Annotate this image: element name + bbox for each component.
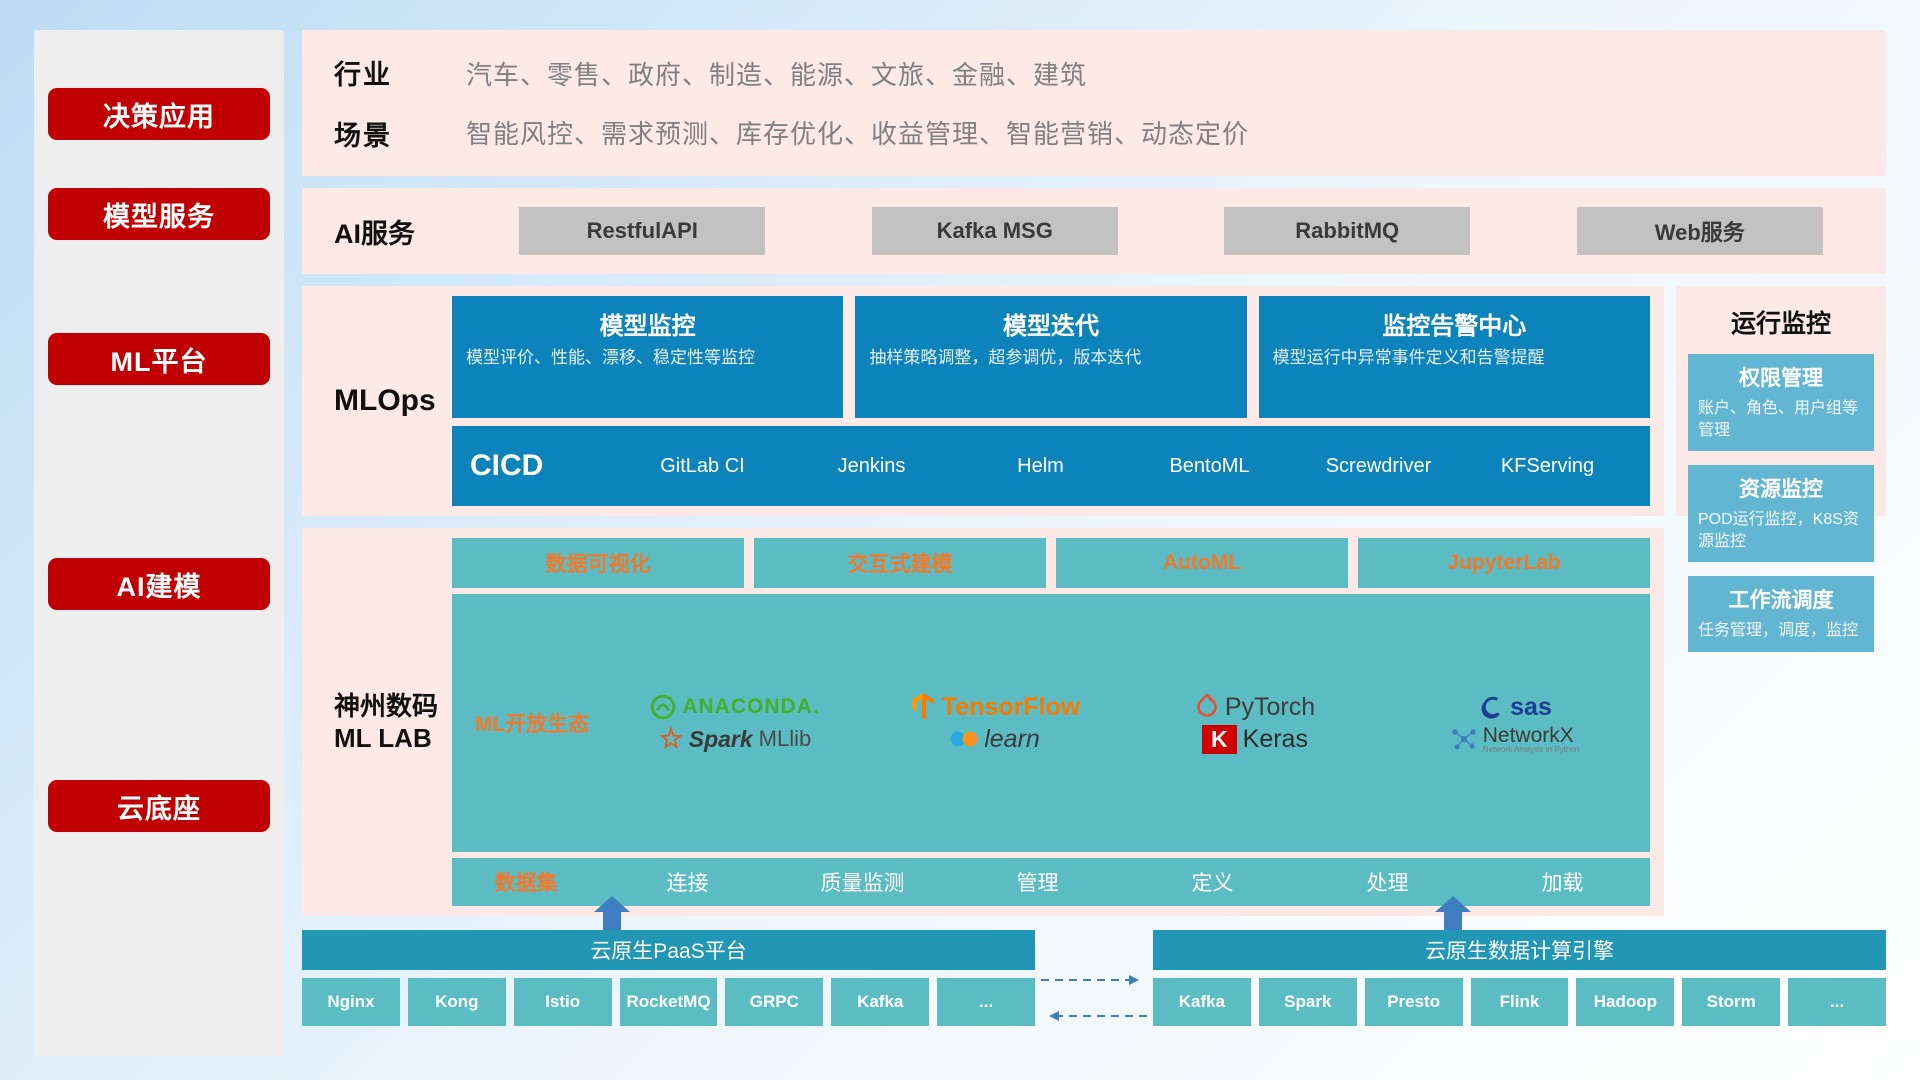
bidirectional-dashed-arrows-icon (1035, 930, 1153, 1056)
ml-platform-row: MLOps 模型监控 模型评价、性能、漂移、稳定性等监控 模型迭代 抽样策略调整… (302, 286, 1886, 516)
card-title: 模型迭代 (869, 306, 1232, 341)
engine-title: 云原生数据计算引擎 (1153, 930, 1886, 970)
keras-logo: K Keras (1202, 725, 1308, 754)
architecture-diagram: 决策应用 模型服务 ML平台 AI建模 云底座 行业 场景 汽车、零售、政府、制… (0, 0, 1920, 1080)
rail-item-ai-modeling[interactable]: AI建模 (48, 558, 270, 610)
paas-chip-grpc[interactable]: GRPC (725, 978, 823, 1026)
mlops-cards: 模型监控 模型评价、性能、漂移、稳定性等监控 模型迭代 抽样策略调整，超参调优，… (452, 296, 1650, 418)
tool-automl[interactable]: AutoML (1056, 538, 1348, 588)
ai-service-chips: RestfulAPI Kafka MSG RabbitMQ Web服务 (466, 207, 1886, 255)
dataset-cell-process[interactable]: 处理 (1300, 867, 1475, 897)
engine-chip-hadoop[interactable]: Hadoop (1576, 978, 1674, 1026)
dataset-cell-define[interactable]: 定义 (1125, 867, 1300, 897)
monitor-card-permission[interactable]: 权限管理 账户、角色、用户组等管理 (1688, 354, 1874, 451)
arrow-up-icon (1433, 896, 1473, 930)
cicd-item-bentoml[interactable]: BentoML (1125, 455, 1294, 477)
rail-label: 云底座 (117, 787, 201, 826)
ml-lab-label-line1: 神州数码 (334, 691, 438, 721)
ml-lab-label-line2: ML LAB (334, 723, 432, 753)
networkx-logo: NetworkX Network Analysis in Python (1451, 725, 1580, 754)
paas-title: 云原生PaaS平台 (302, 930, 1035, 970)
engine-chips: Kafka Spark Presto Flink Hadoop Storm ..… (1153, 978, 1886, 1026)
ml-ecosystem-panel: ML开放生态 ANACONDA. (452, 594, 1650, 852)
ai-chip-rabbitmq[interactable]: RabbitMQ (1224, 207, 1470, 255)
ai-modeling-row: 神州数码 ML LAB 数据可视化 交互式建模 AutoML JupyterLa… (302, 528, 1886, 916)
cicd-item-screwdriver[interactable]: Screwdriver (1294, 455, 1463, 477)
networkx-subtitle: Network Analysis in Python (1483, 746, 1580, 754)
card-desc: 账户、角色、用户组等管理 (1698, 398, 1864, 441)
engine-column: 云原生数据计算引擎 Kafka Spark Presto Flink Hadoo… (1153, 930, 1886, 1056)
paas-chip-kong[interactable]: Kong (408, 978, 506, 1026)
mlops-card-alert-center[interactable]: 监控告警中心 模型运行中异常事件定义和告警提醒 (1259, 296, 1650, 418)
paas-chip-rocketmq[interactable]: RocketMQ (620, 978, 718, 1026)
cicd-label: CICD (470, 449, 618, 483)
engine-chip-kafka[interactable]: Kafka (1153, 978, 1251, 1026)
ai-service-label: AI服务 (334, 212, 466, 251)
engine-chip-presto[interactable]: Presto (1365, 978, 1463, 1026)
paas-chip-istio[interactable]: Istio (514, 978, 612, 1026)
cicd-bar: CICD GitLab CI Jenkins Helm BentoML Scre… (452, 426, 1650, 506)
mlops-label: MLOps (334, 296, 452, 506)
main-column: 行业 场景 汽车、零售、政府、制造、能源、文旅、金融、建筑 智能风控、需求预测、… (302, 30, 1886, 1056)
spark-star-icon (659, 727, 683, 751)
rail-label: ML平台 (111, 340, 208, 379)
rail-label: 决策应用 (103, 95, 215, 134)
rail-item-ml-platform[interactable]: ML平台 (48, 333, 270, 385)
layer-rail: 决策应用 模型服务 ML平台 AI建模 云底座 (34, 30, 284, 1056)
keras-label: Keras (1243, 725, 1308, 754)
dataset-cells: 连接 质量监测 管理 定义 处理 加载 (600, 867, 1650, 897)
modeling-tools: 数据可视化 交互式建模 AutoML JupyterLab (452, 538, 1650, 588)
mlops-card-model-iteration[interactable]: 模型迭代 抽样策略调整，超参调优，版本迭代 (855, 296, 1246, 418)
mlops-band: MLOps 模型监控 模型评价、性能、漂移、稳定性等监控 模型迭代 抽样策略调整… (302, 286, 1664, 516)
mlops-stack: 模型监控 模型评价、性能、漂移、稳定性等监控 模型迭代 抽样策略调整，超参调优，… (452, 296, 1650, 506)
engine-chip-spark[interactable]: Spark (1259, 978, 1357, 1026)
apps-values: 汽车、零售、政府、制造、能源、文旅、金融、建筑 智能风控、需求预测、库存优化、收… (466, 55, 1249, 151)
tensorflow-logo: TensorFlow (910, 692, 1080, 722)
mlops-card-model-monitor[interactable]: 模型监控 模型评价、性能、漂移、稳定性等监控 (452, 296, 843, 418)
modeling-stack: 数据可视化 交互式建模 AutoML JupyterLab ML开放生态 (452, 538, 1650, 906)
ai-chip-kafka-msg[interactable]: Kafka MSG (872, 207, 1118, 255)
dataset-label: 数据集 (452, 867, 600, 897)
scene-value: 智能风控、需求预测、库存优化、收益管理、智能营销、动态定价 (466, 114, 1249, 151)
tool-interactive-modeling[interactable]: 交互式建模 (754, 538, 1046, 588)
apps-labels: 行业 场景 (334, 53, 466, 153)
engine-chip-storm[interactable]: Storm (1682, 978, 1780, 1026)
card-title: 模型监控 (466, 306, 829, 341)
rail-label: 模型服务 (103, 195, 215, 234)
paas-column: 云原生PaaS平台 Nginx Kong Istio RocketMQ GRPC… (302, 930, 1035, 1056)
card-title: 资源监控 (1698, 473, 1864, 503)
sas-icon (1478, 694, 1504, 720)
scikit-learn-logo: learn (950, 725, 1040, 754)
anaconda-label: ANACONDA. (682, 695, 819, 719)
spark-wordmark: Spark (689, 726, 753, 753)
decision-apps-band: 行业 场景 汽车、零售、政府、制造、能源、文旅、金融、建筑 智能风控、需求预测、… (302, 30, 1886, 176)
dataset-cell-load[interactable]: 加载 (1475, 867, 1650, 897)
tensorflow-label: TensorFlow (942, 693, 1080, 722)
rail-label: AI建模 (117, 565, 202, 604)
dataset-cell-quality[interactable]: 质量监测 (775, 867, 950, 897)
modeling-right-spacer (1676, 528, 1886, 916)
scikit-learn-icon (950, 728, 978, 750)
card-desc: 模型运行中异常事件定义和告警提醒 (1273, 347, 1636, 370)
pytorch-icon (1195, 693, 1219, 721)
cloud-connector (1035, 930, 1153, 1056)
monitor-title: 运行监控 (1688, 304, 1874, 340)
engine-chip-more[interactable]: ... (1788, 978, 1886, 1026)
ml-lab-label: 神州数码 ML LAB (334, 538, 452, 906)
card-desc: 模型评价、性能、漂移、稳定性等监控 (466, 347, 829, 370)
pytorch-label: PyTorch (1225, 693, 1315, 722)
rail-item-cloud-base[interactable]: 云底座 (48, 780, 270, 832)
rail-item-model-service[interactable]: 模型服务 (48, 188, 270, 240)
ml-ecosystem-label: ML开放生态 (458, 708, 606, 738)
paas-chips: Nginx Kong Istio RocketMQ GRPC Kafka ... (302, 978, 1035, 1026)
ecosystem-logos: ANACONDA. TensorFlow (606, 692, 1644, 754)
tool-jupyterlab[interactable]: JupyterLab (1358, 538, 1650, 588)
ai-chip-web-service[interactable]: Web服务 (1577, 207, 1823, 255)
card-title: 权限管理 (1698, 362, 1864, 392)
runtime-monitor-panel: 运行监控 权限管理 账户、角色、用户组等管理 资源监控 POD运行监控，K8S资… (1676, 286, 1886, 516)
networkx-icon (1451, 727, 1477, 751)
sas-label: sas (1510, 693, 1552, 722)
cicd-item-jenkins[interactable]: Jenkins (787, 455, 956, 477)
ai-chip-restfulapi[interactable]: RestfulAPI (519, 207, 765, 255)
ml-lab-band: 神州数码 ML LAB 数据可视化 交互式建模 AutoML JupyterLa… (302, 528, 1664, 916)
arrow-up-icon (592, 896, 632, 930)
industry-label: 行业 (334, 53, 466, 92)
mllib-label: MLlib (759, 726, 812, 752)
cicd-item-helm[interactable]: Helm (956, 455, 1125, 477)
cicd-item-kfserving[interactable]: KFServing (1463, 455, 1632, 477)
cicd-item-gitlab-ci[interactable]: GitLab CI (618, 455, 787, 477)
cloud-foundation-row: 云原生PaaS平台 Nginx Kong Istio RocketMQ GRPC… (302, 930, 1886, 1056)
rail-item-decision-apps[interactable]: 决策应用 (48, 88, 270, 140)
spark-mllib-logo: Spark MLlib (659, 726, 812, 753)
dataset-cell-connect[interactable]: 连接 (600, 867, 775, 897)
tool-data-visualization[interactable]: 数据可视化 (452, 538, 744, 588)
engine-chip-flink[interactable]: Flink (1471, 978, 1569, 1026)
card-desc: 抽样策略调整，超参调优，版本迭代 (869, 347, 1232, 370)
anaconda-icon (650, 694, 676, 720)
scene-label: 场景 (334, 114, 466, 153)
scikit-learn-label: learn (984, 725, 1040, 754)
paas-chip-more[interactable]: ... (937, 978, 1035, 1026)
card-title: 监控告警中心 (1273, 306, 1636, 341)
paas-chip-kafka[interactable]: Kafka (831, 978, 929, 1026)
industry-value: 汽车、零售、政府、制造、能源、文旅、金融、建筑 (466, 55, 1249, 92)
anaconda-logo: ANACONDA. (650, 694, 819, 720)
cicd-items: GitLab CI Jenkins Helm BentoML Screwdriv… (618, 455, 1632, 477)
tensorflow-icon (910, 692, 936, 722)
networkx-label: NetworkX (1483, 725, 1580, 746)
dataset-cell-manage[interactable]: 管理 (950, 867, 1125, 897)
paas-chip-nginx[interactable]: Nginx (302, 978, 400, 1026)
sas-logo: sas (1478, 693, 1552, 722)
ai-service-band: AI服务 RestfulAPI Kafka MSG RabbitMQ Web服务 (302, 188, 1886, 274)
keras-badge-icon: K (1202, 725, 1237, 754)
pytorch-logo: PyTorch (1195, 693, 1315, 722)
